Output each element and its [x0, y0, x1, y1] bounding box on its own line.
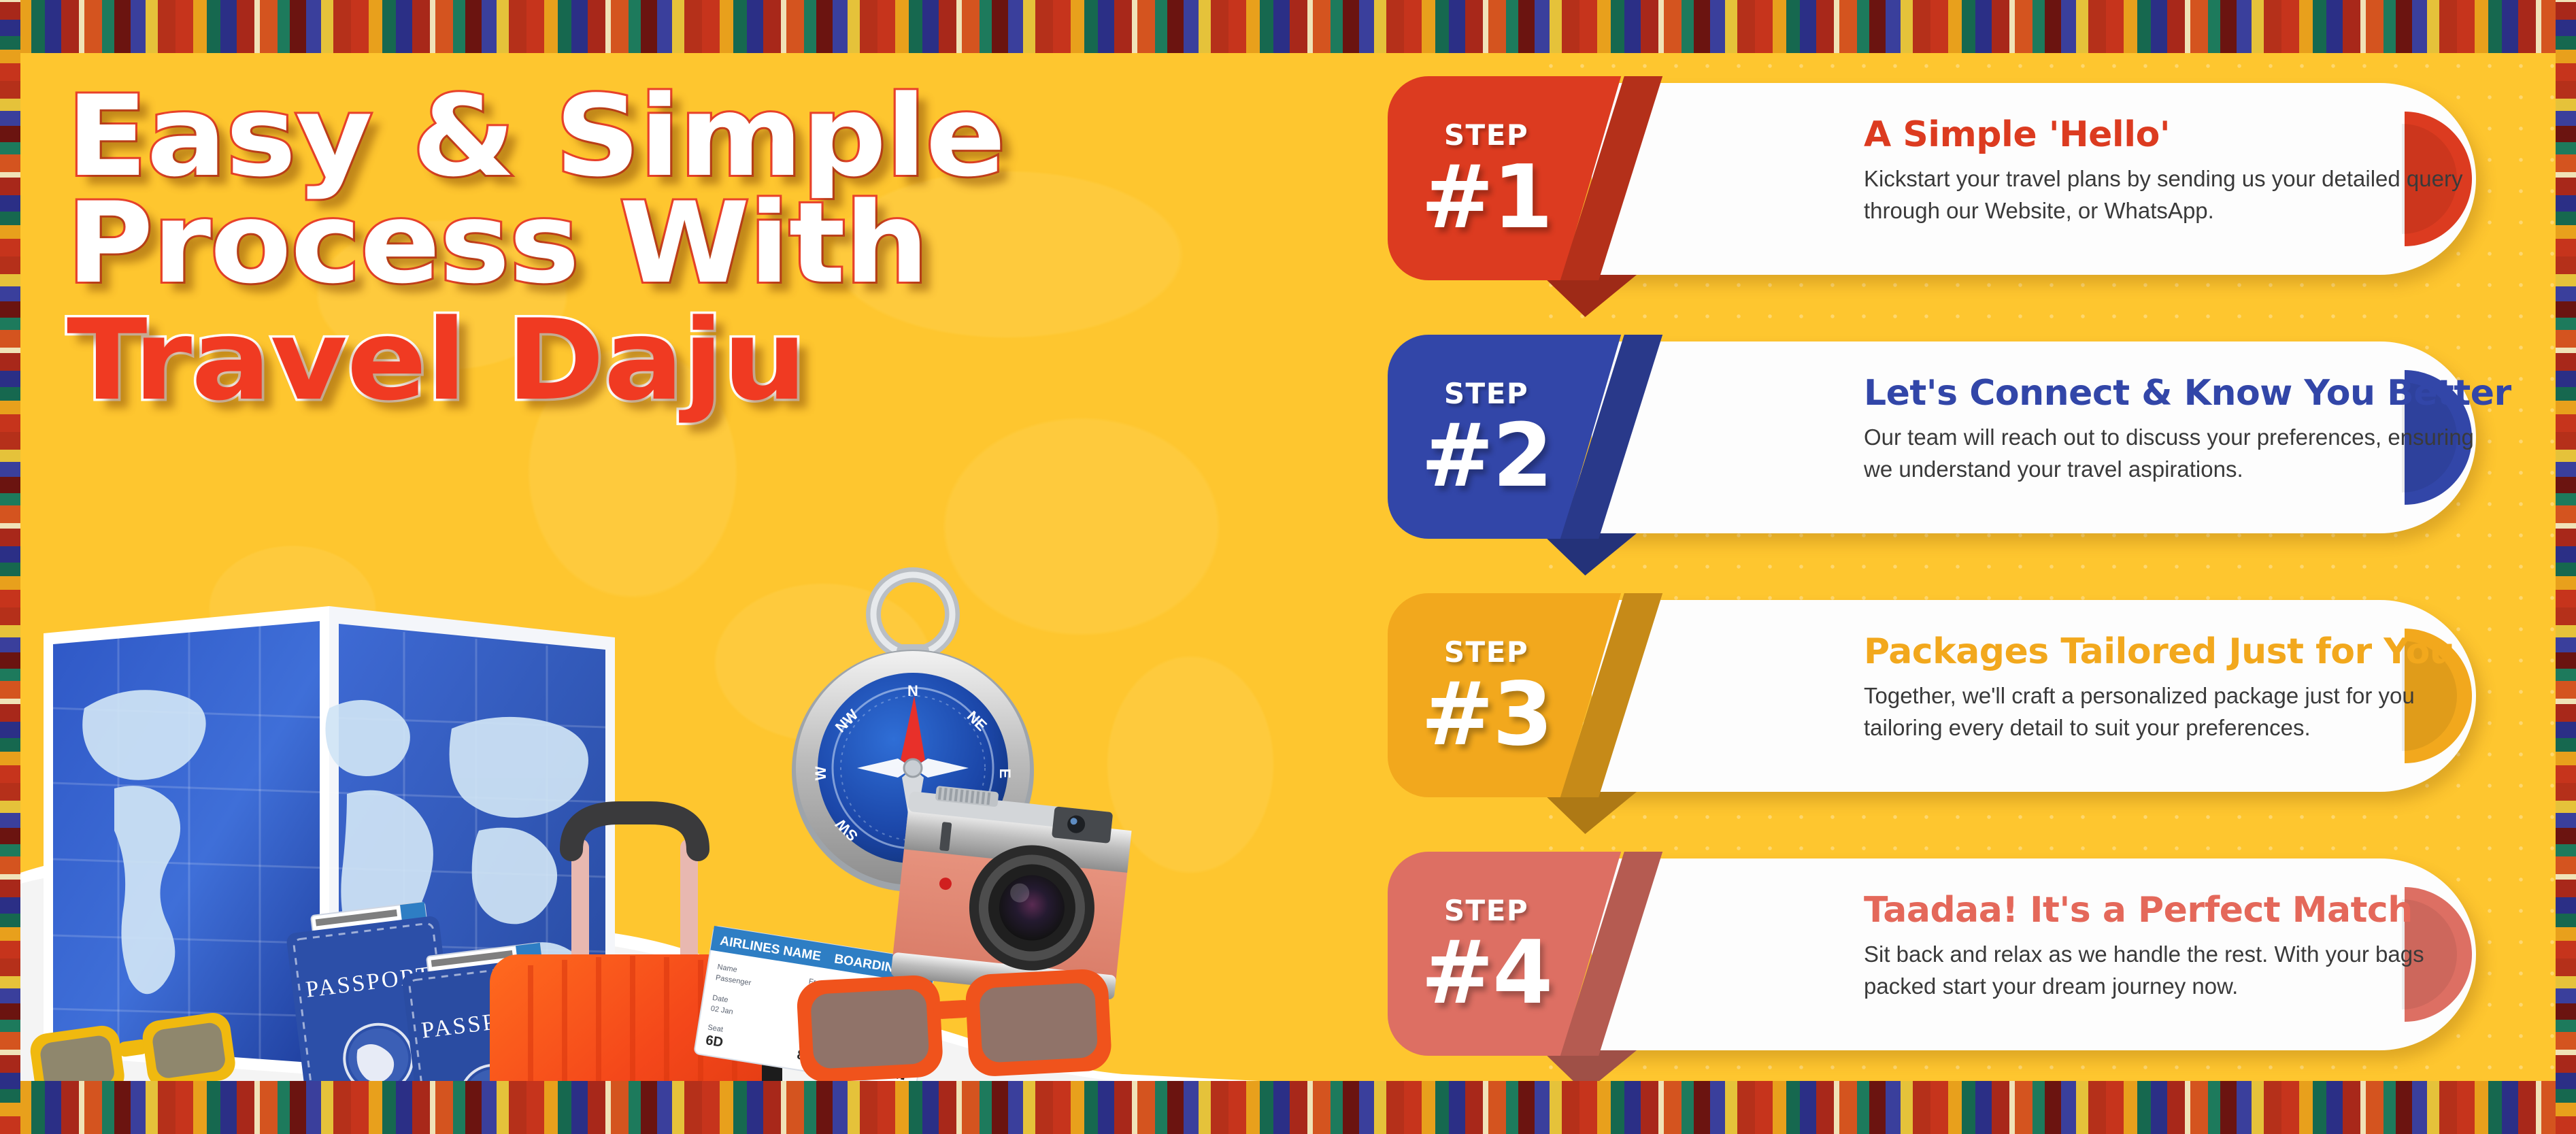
step-row[interactable]: Packages Tailored Just for You Together,…	[1388, 593, 2544, 797]
step-title: Let's Connect & Know You Better	[1864, 373, 2496, 414]
headline-line-1: Easy & Simple	[67, 83, 1005, 190]
card-text: Taadaa! It's a Perfect Match Sit back an…	[1864, 890, 2496, 1003]
step-card[interactable]: Let's Connect & Know You Better Our team…	[1592, 341, 2476, 533]
card-text: A Simple 'Hello' Kickstart your travel p…	[1864, 114, 2496, 227]
step-number: #2	[1388, 405, 1585, 507]
travel-illustration: PASSPORT PASSPORT	[20, 553, 1313, 1084]
ribbon-fold	[1541, 275, 1637, 317]
step-card[interactable]: Packages Tailored Just for You Together,…	[1592, 600, 2476, 792]
step-number: #4	[1388, 922, 1585, 1024]
step-description: Our team will reach out to discuss your …	[1864, 422, 2496, 486]
step-description: Kickstart your travel plans by sending u…	[1864, 163, 2496, 227]
retro-camera	[890, 783, 1134, 1000]
textile-border-left	[0, 0, 20, 1134]
banner-stage: Easy & Simple Process With Travel Daju	[20, 50, 2556, 1084]
step-title: Taadaa! It's a Perfect Match	[1864, 890, 2496, 931]
step-card[interactable]: A Simple 'Hello' Kickstart your travel p…	[1592, 83, 2476, 275]
textile-border-bottom	[0, 1081, 2576, 1134]
page-title: Easy & Simple Process With Travel Daju	[67, 83, 952, 414]
svg-text:N: N	[907, 682, 918, 699]
svg-text:E: E	[997, 769, 1014, 779]
card-text: Let's Connect & Know You Better Our team…	[1864, 373, 2496, 486]
step-title: Packages Tailored Just for You	[1864, 631, 2496, 672]
step-card[interactable]: Taadaa! It's a Perfect Match Sit back an…	[1592, 858, 2476, 1050]
step-row[interactable]: A Simple 'Hello' Kickstart your travel p…	[1388, 76, 2544, 280]
step-row[interactable]: Let's Connect & Know You Better Our team…	[1388, 335, 2544, 539]
step-description: Together, we'll craft a personalized pac…	[1864, 680, 2496, 744]
step-number: #3	[1388, 664, 1585, 765]
ribbon-fold	[1541, 792, 1637, 834]
promo-banner: Easy & Simple Process With Travel Daju	[0, 0, 2576, 1134]
step-number: #1	[1388, 147, 1585, 248]
headline-line-3: Travel Daju	[67, 307, 1005, 414]
ribbon-fold	[1541, 533, 1637, 576]
step-title: A Simple 'Hello'	[1864, 114, 2496, 155]
textile-border-top	[0, 0, 2576, 53]
textile-border-right	[2556, 0, 2576, 1134]
steps-list: A Simple 'Hello' Kickstart your travel p…	[1388, 64, 2544, 1084]
svg-text:6D: 6D	[705, 1033, 724, 1050]
card-text: Packages Tailored Just for You Together,…	[1864, 631, 2496, 744]
step-description: Sit back and relax as we handle the rest…	[1864, 939, 2496, 1003]
headline-line-2: Process With	[67, 190, 1005, 297]
step-row[interactable]: Taadaa! It's a Perfect Match Sit back an…	[1388, 852, 2544, 1056]
svg-text:W: W	[812, 766, 829, 780]
